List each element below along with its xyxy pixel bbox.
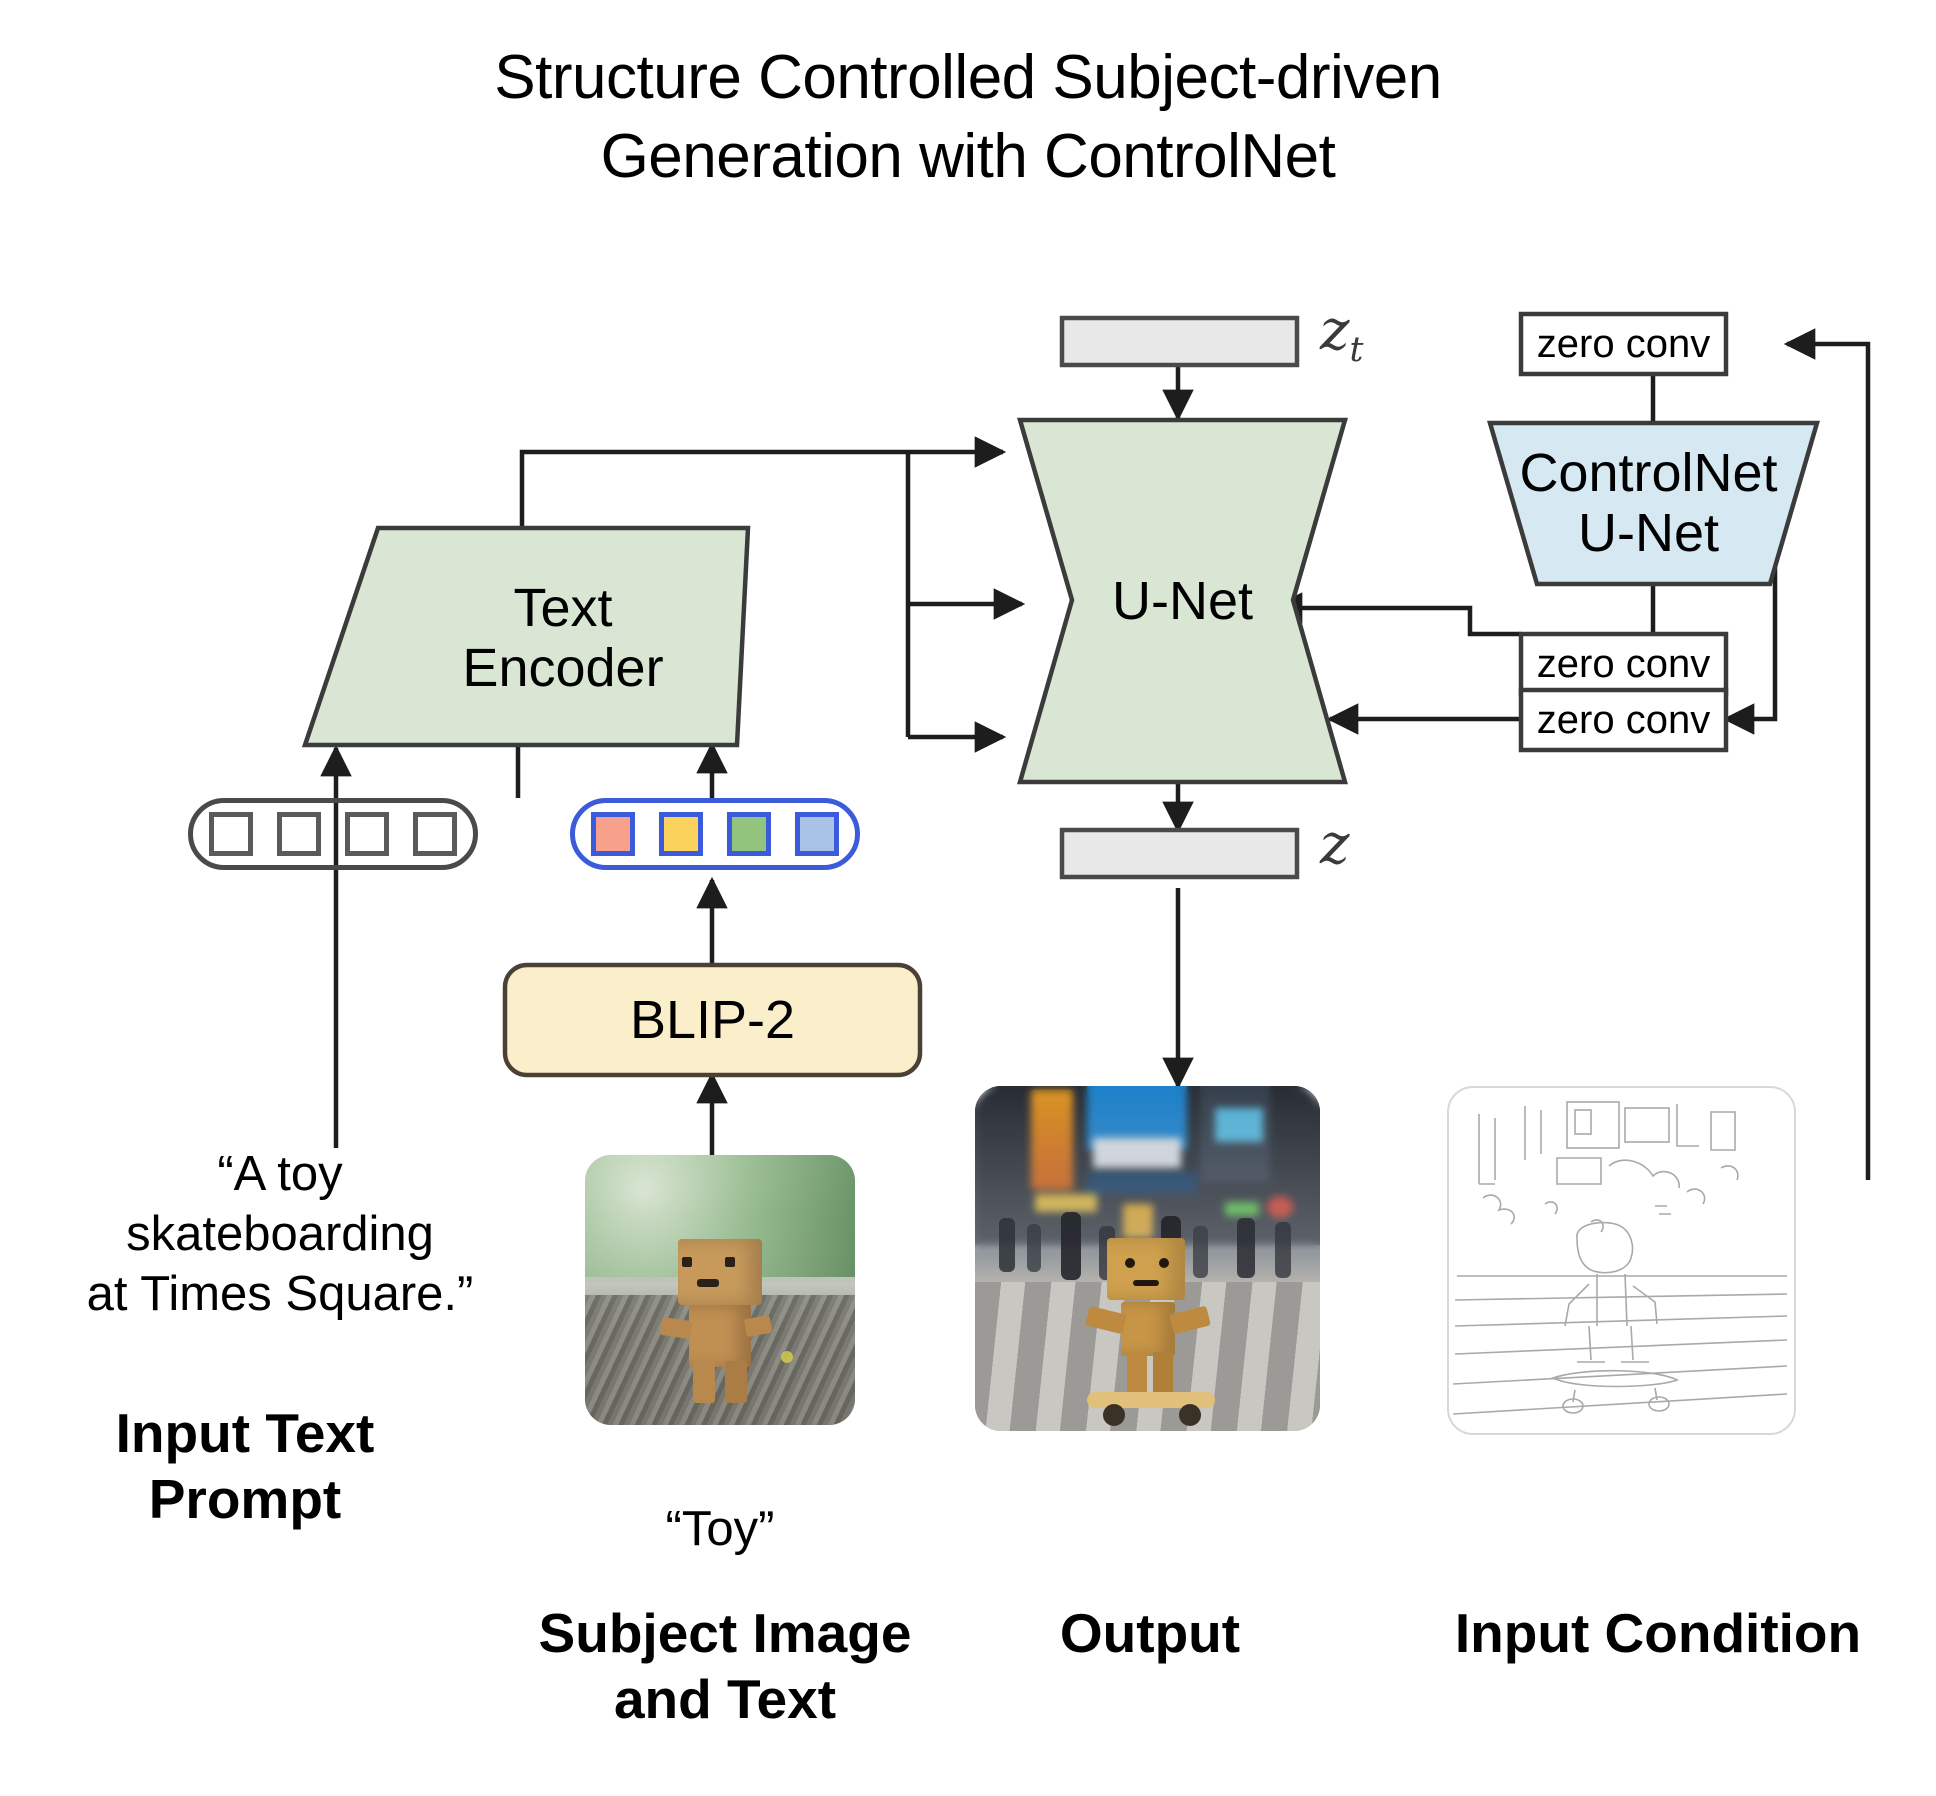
blip2-shape	[505, 965, 920, 1075]
subject-token-pill	[570, 798, 860, 870]
subject-text-quote: “Toy”	[575, 1500, 865, 1560]
z-latent-bar-shape	[1062, 830, 1297, 877]
text-encoder-shape	[305, 528, 748, 745]
diagram-canvas: Structure Controlled Subject-driven Gene…	[0, 0, 1936, 1796]
text-token-2	[345, 812, 389, 856]
zt-latent-subscript: t	[1350, 330, 1364, 370]
text-token-pill	[188, 798, 478, 870]
zt-latent-bar-shape	[1062, 318, 1297, 365]
subject-image-caption-line-2: and Text	[420, 1666, 1030, 1732]
z-latent-label: z	[1320, 812, 1350, 877]
input-prompt-quote: “A toy skateboarding at Times Square.”	[10, 1145, 550, 1324]
unet-shape	[1020, 420, 1345, 782]
zero-conv-bottom-shape	[1521, 690, 1726, 750]
input-text-prompt-caption-line-1: Input Text	[10, 1400, 480, 1466]
text-token-0	[209, 812, 253, 856]
input-text-prompt-caption-line-2: Prompt	[10, 1466, 480, 1532]
edge-text-encoder-to-unet-top	[522, 452, 1003, 528]
subject-token-0	[591, 812, 635, 856]
zt-latent-label: zt	[1320, 298, 1363, 370]
input-prompt-quote-line-3: at Times Square.”	[10, 1265, 550, 1325]
input-condition-caption: Input Condition	[1380, 1600, 1936, 1666]
subject-image-caption-line-1: Subject Image	[420, 1600, 1030, 1666]
subject-token-3	[795, 812, 839, 856]
text-token-1	[277, 812, 321, 856]
output-caption: Output	[1010, 1600, 1290, 1666]
input-prompt-quote-line-1: “A toy	[10, 1145, 550, 1205]
controlnet-unet-shape	[1490, 423, 1817, 584]
output-image	[975, 1086, 1320, 1431]
subject-image-caption: Subject Image and Text	[420, 1600, 1030, 1732]
zero-conv-mid-shape	[1521, 634, 1726, 694]
subject-image	[585, 1155, 855, 1425]
text-token-3	[413, 812, 457, 856]
edge-zero-conv-mid-to-unet	[1274, 608, 1521, 634]
input-prompt-quote-line-2: skateboarding	[10, 1205, 550, 1265]
subject-token-1	[659, 812, 703, 856]
zt-latent-symbol: z	[1320, 298, 1350, 363]
input-text-prompt-caption: Input Text Prompt	[10, 1400, 480, 1532]
zero-conv-top-shape	[1521, 314, 1726, 374]
subject-token-2	[727, 812, 771, 856]
condition-image	[1447, 1086, 1796, 1435]
